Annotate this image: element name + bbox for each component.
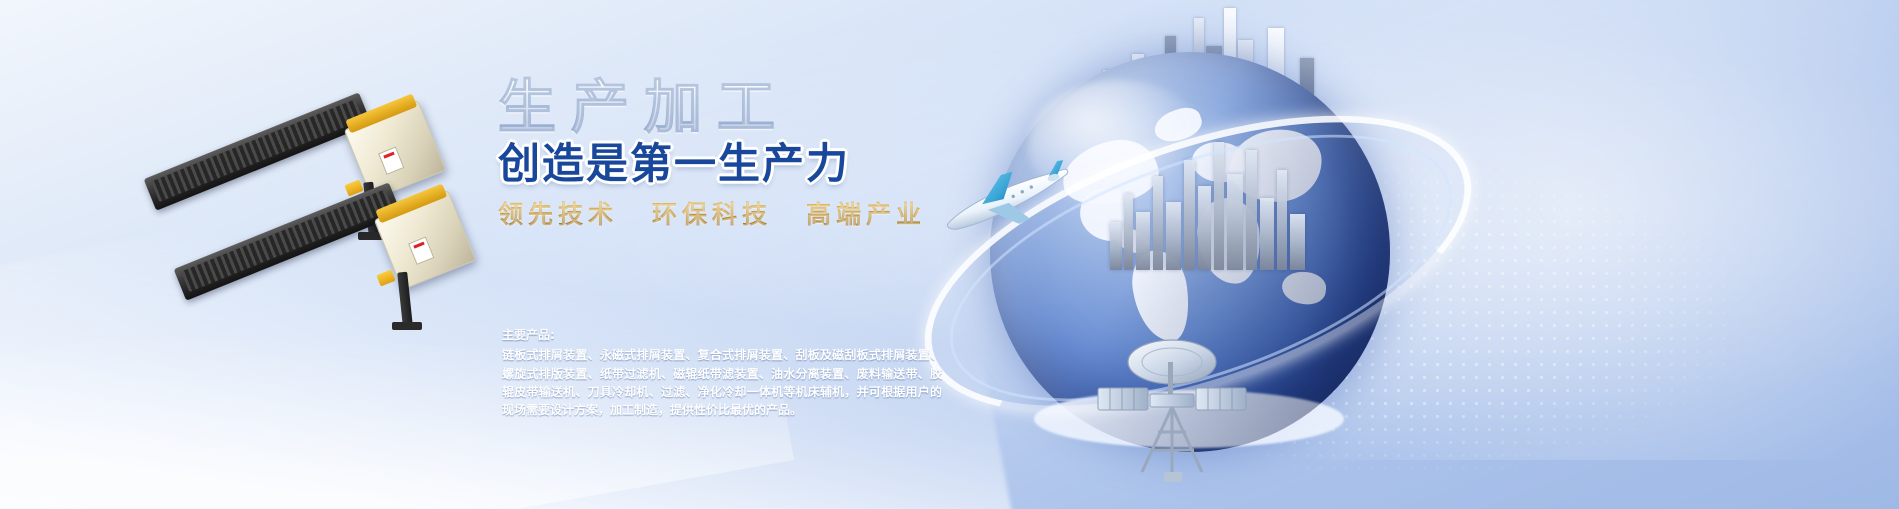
banner-subheadline: 创造是第一生产力 (498, 142, 968, 186)
product-description-block: 主要产品: 链板式排屑装置、永磁式排屑装置、复合式排屑装置、刮板及磁刮板式排屑装… (502, 327, 942, 419)
satellite-icon (1080, 322, 1270, 502)
tagline-3: 高端产业 (806, 195, 926, 231)
banner-headline: 生产加工 (498, 78, 968, 136)
globe-graphic (930, 0, 1450, 509)
product-list-title: 主要产品: (502, 327, 942, 344)
chip-conveyor-machines-graphic (150, 120, 530, 340)
promotional-banner: 生产加工 创造是第一生产力 领先技术 环保科技 高端产业 主要产品: 链板式排屑… (0, 0, 1899, 509)
tagline-1: 领先技术 (498, 195, 618, 231)
banner-text-block: 生产加工 创造是第一生产力 领先技术 环保科技 高端产业 (498, 78, 968, 231)
product-list-text: 链板式排屑装置、永磁式排屑装置、复合式排屑装置、刮板及磁刮板式排屑装置、螺旋式排… (502, 346, 942, 419)
banner-taglines: 领先技术 环保科技 高端产业 (498, 195, 968, 231)
tagline-2: 环保科技 (652, 195, 772, 231)
